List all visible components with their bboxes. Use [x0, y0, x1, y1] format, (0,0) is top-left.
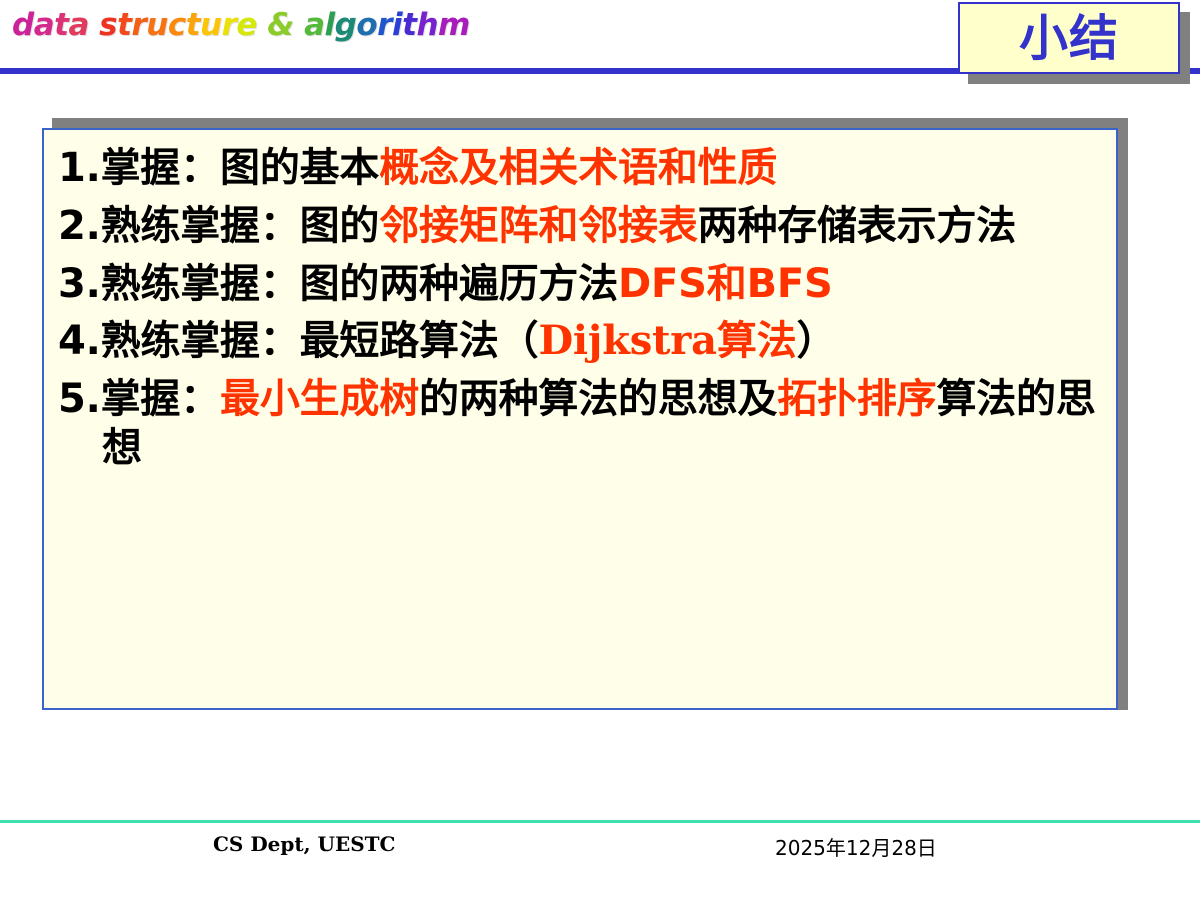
page-title: 小结: [1019, 14, 1119, 63]
brand-logo-letter: t: [117, 10, 131, 41]
brand-logo-letter: c: [168, 10, 186, 41]
brand-logo: data structure & algorithm: [12, 10, 470, 41]
slide-header: data structure & algorithm 小结: [0, 0, 1200, 78]
brand-logo-letter: t: [186, 10, 200, 41]
objective-item: 1.掌握：图的基本概念及相关术语和性质: [58, 144, 1106, 193]
objective-item: 4.熟练掌握：最短路算法（Dijkstra算法）: [58, 317, 1106, 366]
brand-logo-letter: u: [200, 10, 222, 41]
objective-keyword: 拓扑排序: [777, 376, 936, 422]
slide-footer: CS Dept, UESTC 2025年12月28日: [0, 828, 1200, 868]
objective-text: 两种存储表示方法: [698, 203, 1016, 249]
objective-keyword: DFS和BFS: [618, 261, 833, 307]
objectives-list: 1.掌握：图的基本概念及相关术语和性质2.熟练掌握：图的邻接矩阵和邻接表两种存储…: [58, 144, 1106, 473]
footer-divider-rule: [0, 820, 1200, 823]
brand-logo-letter: a: [304, 10, 324, 41]
brand-logo-letter: l: [325, 10, 335, 41]
objective-keyword: 概念及相关术语和性质: [379, 145, 777, 191]
objective-text: 3.熟练掌握：图的两种遍历方法: [58, 261, 618, 307]
brand-logo-letter: r: [377, 10, 392, 41]
brand-logo-letter: s: [99, 10, 117, 41]
brand-logo-letter: a: [68, 10, 88, 41]
brand-logo-letter: [89, 10, 99, 41]
objective-keyword: 最小生成树: [220, 376, 419, 422]
brand-logo-letter: r: [131, 10, 146, 41]
brand-logo-letter: [294, 10, 304, 41]
brand-logo-letter: i: [392, 10, 402, 41]
objective-keyword: 算法: [717, 318, 797, 364]
brand-logo-letter: t: [402, 10, 416, 41]
brand-logo-letter: h: [416, 10, 438, 41]
brand-logo-letter: [257, 10, 267, 41]
brand-logo-letter: g: [335, 10, 357, 41]
content-panel: 1.掌握：图的基本概念及相关术语和性质2.熟练掌握：图的邻接矩阵和邻接表两种存储…: [42, 128, 1118, 710]
brand-logo-letter: o: [356, 10, 377, 41]
objective-text: 的两种算法的思想及: [419, 376, 777, 422]
brand-logo-letter: t: [54, 10, 68, 41]
objective-text: 1.掌握：图的基本: [58, 145, 379, 191]
brand-logo-letter: u: [146, 10, 168, 41]
brand-logo-letter: e: [236, 10, 257, 41]
brand-logo-letter: m: [438, 10, 470, 41]
objective-keyword: Dijkstra: [538, 317, 716, 364]
objective-text: ）: [797, 318, 837, 364]
brand-logo-letter: a: [34, 10, 54, 41]
objective-text: 2.熟练掌握：图的: [58, 203, 379, 249]
objective-text: 4.熟练掌握：最短路算法（: [58, 318, 538, 364]
brand-logo-letter: r: [222, 10, 237, 41]
objective-item: 3.熟练掌握：图的两种遍历方法DFS和BFS: [58, 260, 1106, 309]
objective-text: 5.掌握：: [58, 376, 220, 422]
objective-item: 5.掌握：最小生成树的两种算法的思想及拓扑排序算法的思想: [58, 375, 1106, 473]
footer-organization: CS Dept, UESTC: [213, 832, 395, 856]
footer-date: 2025年12月28日: [775, 832, 937, 861]
brand-logo-letter: d: [12, 10, 34, 41]
objective-keyword: 邻接矩阵和邻接表: [379, 203, 697, 249]
brand-logo-letter: &: [267, 10, 294, 41]
objective-item: 2.熟练掌握：图的邻接矩阵和邻接表两种存储表示方法: [58, 202, 1106, 251]
slide-title-chip: 小结: [958, 2, 1180, 74]
